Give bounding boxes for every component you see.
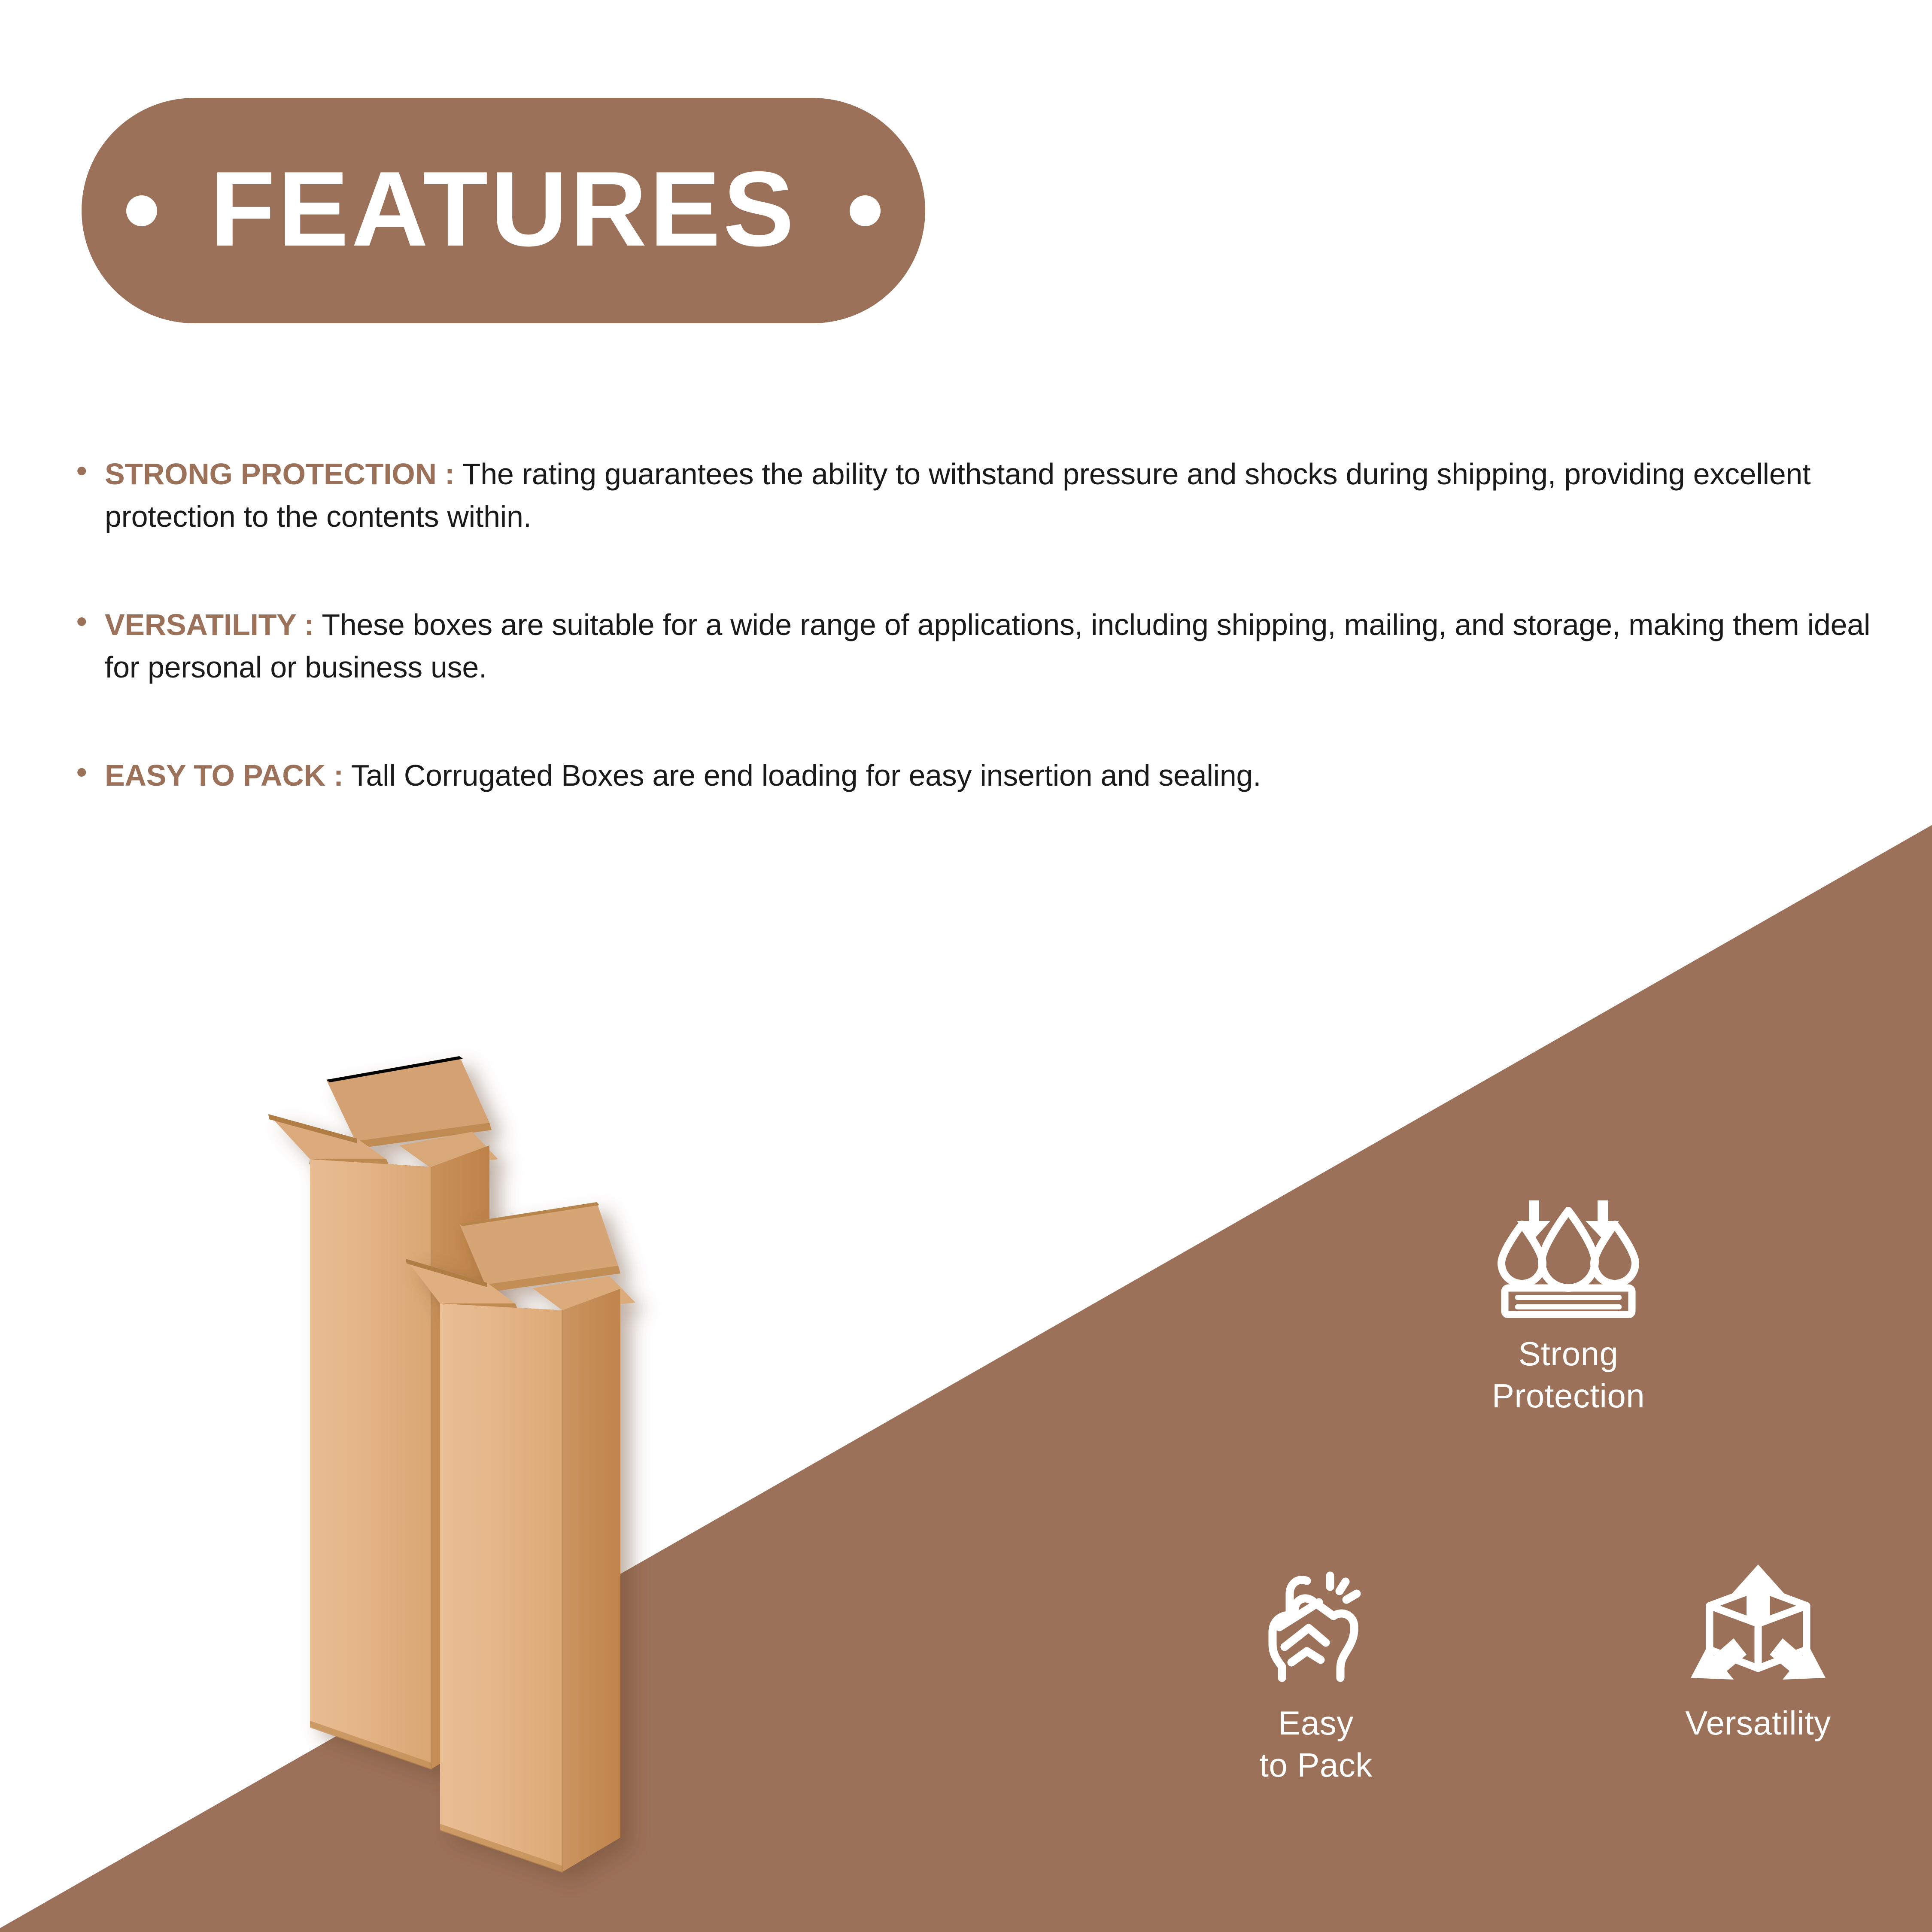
water-drops-on-corrugated-board-icon <box>1437 1198 1699 1318</box>
list-item: • EASY TO PACK : Tall Corrugated Boxes a… <box>76 754 1871 797</box>
icon-label-versatility: Versatility <box>1627 1702 1889 1744</box>
feature-slide-canvas: FEATURES • STRONG PROTECTION : The ratin… <box>0 0 1932 1932</box>
list-item: • STRONG PROTECTION : The rating guarant… <box>76 453 1871 538</box>
bullet-dot-icon: • <box>76 604 105 639</box>
icon-block-easy-to-pack: Easy to Pack <box>1185 1563 1447 1786</box>
features-list: • STRONG PROTECTION : The rating guarant… <box>76 453 1871 862</box>
icon-label-strong-protection: Strong Protection <box>1437 1333 1699 1417</box>
feature-text: STRONG PROTECTION : The rating guarantee… <box>105 453 1871 538</box>
box-with-arrows-icon <box>1627 1563 1889 1687</box>
feature-text: EASY TO PACK : Tall Corrugated Boxes are… <box>105 754 1871 797</box>
icon-block-strong-protection: Strong Protection <box>1437 1198 1699 1417</box>
feature-heading: VERSATILITY : <box>105 608 314 641</box>
icon-block-versatility: Versatility <box>1627 1563 1889 1744</box>
page-title: FEATURES <box>82 155 925 262</box>
feature-description: Tall Corrugated Boxes are end loading fo… <box>343 759 1261 792</box>
bullet-dot-icon: • <box>76 754 105 790</box>
feature-heading: EASY TO PACK : <box>105 759 343 792</box>
feature-heading: STRONG PROTECTION : <box>105 457 455 491</box>
product-image-two-tall-boxes <box>258 1030 816 1932</box>
features-badge: FEATURES <box>82 98 925 323</box>
feature-description: These boxes are suitable for a wide rang… <box>105 608 1870 684</box>
feature-text: VERSATILITY : These boxes are suitable f… <box>105 604 1871 689</box>
icon-label-easy-to-pack: Easy to Pack <box>1185 1702 1447 1786</box>
hand-snap-icon <box>1185 1563 1447 1687</box>
bullet-dot-icon: • <box>76 453 105 489</box>
list-item: • VERSATILITY : These boxes are suitable… <box>76 604 1871 689</box>
